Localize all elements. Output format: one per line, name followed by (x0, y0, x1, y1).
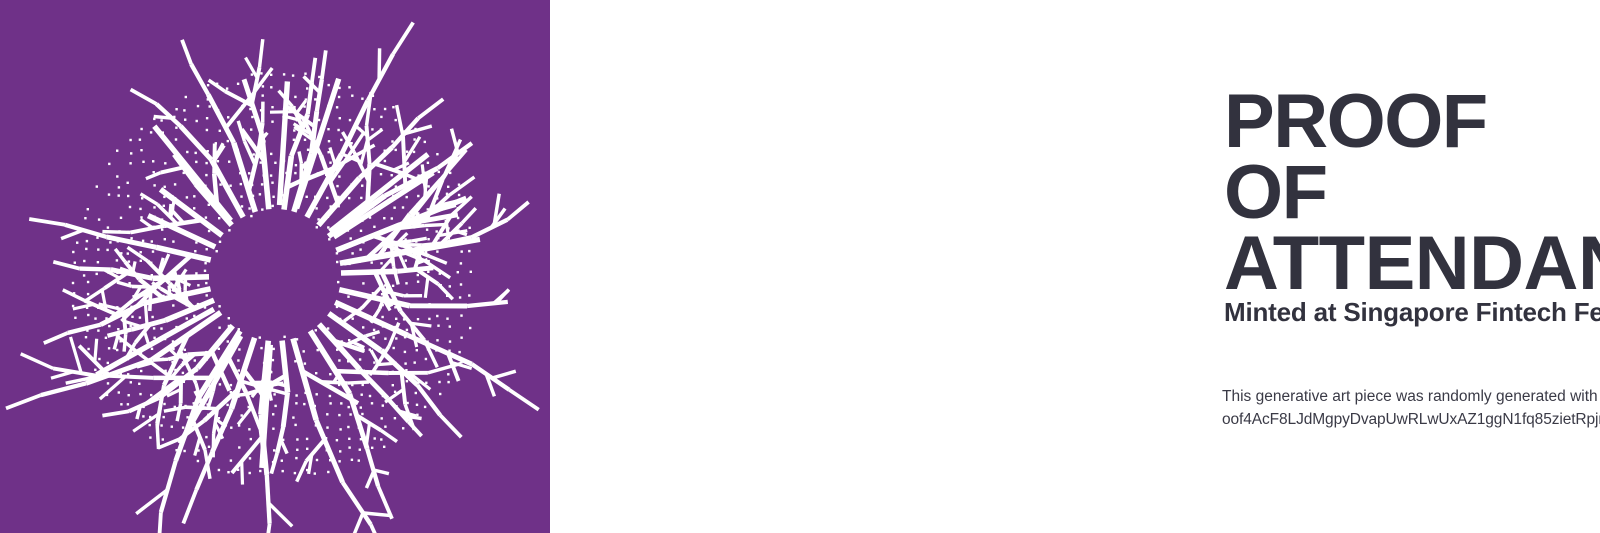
subtitle: Minted at Singapore Fintech Festival 202… (1224, 297, 1600, 327)
description-block: This generative art piece was randomly g… (1222, 385, 1600, 431)
text-panel: PROOF OF ATTENDANCE Minted at Singapore … (550, 0, 1600, 533)
title-line-3: ATTENDANCE (1224, 228, 1600, 299)
artwork-hash: oof4AcF8LJdMgpyDvapUwRLwUxAZ1ggN1fq85zie… (1222, 408, 1600, 431)
generative-art-canvas (0, 0, 550, 533)
title-line-2: OF (1224, 157, 1600, 228)
artwork-panel (0, 0, 550, 533)
proof-of-attendance-card: PROOF OF ATTENDANCE Minted at Singapore … (0, 0, 1600, 533)
description-text: This generative art piece was randomly g… (1222, 385, 1600, 408)
page-title: PROOF OF ATTENDANCE (1224, 86, 1600, 299)
title-line-1: PROOF (1224, 86, 1600, 157)
